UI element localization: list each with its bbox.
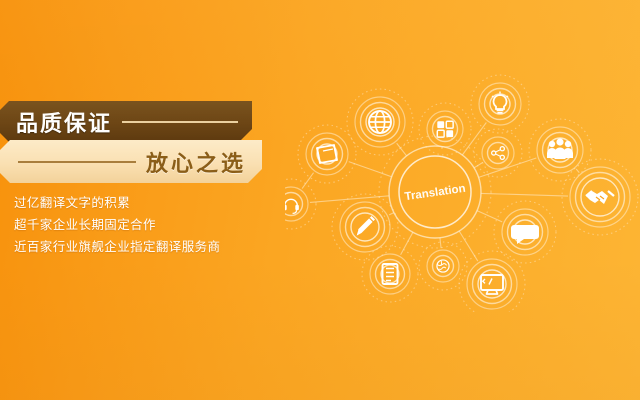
node-ring	[488, 143, 509, 164]
people-group-icon	[547, 138, 573, 159]
node-ring	[433, 256, 454, 277]
network-edge	[401, 232, 413, 254]
banner-bottom-band: 放心之选	[0, 140, 262, 183]
banner-top-band: 品质保证	[0, 101, 252, 142]
network-edge	[479, 158, 537, 177]
network-edge	[440, 238, 441, 248]
network-node-pencil	[332, 194, 398, 260]
puzzle-icon	[437, 121, 453, 137]
network-edge	[576, 169, 579, 173]
feature-line-3: 近百家行业旗舰企业指定翻译服务商	[14, 236, 274, 258]
node-dashed-ring	[471, 75, 529, 133]
network-center-node: Translation	[379, 136, 491, 248]
node-ring	[467, 259, 517, 309]
feature-list: 过亿翻译文字的积累 超千家企业长期固定合作 近百家行业旗舰企业指定翻译服务商	[14, 192, 274, 258]
hero-banner: Translation 品质保证 放心之选 过亿翻译文字的积累 超千家企业长期固…	[0, 0, 640, 400]
handshake-icon	[586, 191, 614, 204]
banner-top-text: 品质保证	[16, 106, 112, 138]
network-node-monitor	[459, 251, 525, 312]
node-ring	[479, 83, 521, 125]
feature-line-1: 过亿翻译文字的积累	[14, 192, 274, 214]
network-node-document	[362, 246, 418, 302]
network-edge	[459, 231, 478, 261]
network-edge	[397, 143, 407, 156]
node-ring	[285, 193, 303, 216]
lightbulb-icon	[492, 92, 508, 113]
banner-bottom-text: 放心之选	[146, 146, 246, 178]
network-node-book	[298, 125, 356, 183]
banner-bottom-rule	[18, 161, 136, 163]
network-svg: Translation	[285, 72, 640, 312]
network-node-lightbulb	[471, 75, 529, 133]
pencil-icon	[356, 216, 375, 236]
node-dashed-ring	[474, 129, 522, 177]
globe-icon	[369, 111, 391, 133]
earth-icon	[437, 260, 449, 272]
network-node-handshake	[562, 159, 638, 235]
share-icon	[492, 147, 505, 160]
network-edge	[474, 162, 483, 167]
network-node-earth	[419, 242, 467, 290]
translation-network-diagram: Translation	[285, 72, 640, 312]
node-ring	[306, 133, 348, 175]
node-ring	[312, 139, 343, 170]
network-edge	[310, 196, 389, 203]
monitor-icon	[481, 275, 503, 294]
node-ring	[433, 117, 458, 142]
network-node-headset	[285, 179, 316, 229]
network-edge	[481, 193, 568, 196]
book-icon	[317, 145, 337, 163]
network-edge	[349, 162, 392, 177]
node-dashed-ring	[419, 242, 467, 290]
quality-banner: 品质保证 放心之选	[0, 101, 268, 183]
network-node-chat	[494, 201, 556, 263]
banner-top-rule	[122, 121, 238, 123]
node-dashed-ring	[298, 125, 356, 183]
network-node-people	[529, 119, 591, 181]
headset-icon	[285, 199, 299, 213]
network-node-globe	[347, 89, 413, 155]
network-edge	[389, 213, 394, 215]
center-node-label: Translation	[404, 183, 466, 203]
chat-bubble-icon	[511, 225, 539, 244]
network-node-share	[474, 129, 522, 177]
feature-line-2: 超千家企业长期固定合作	[14, 214, 274, 236]
